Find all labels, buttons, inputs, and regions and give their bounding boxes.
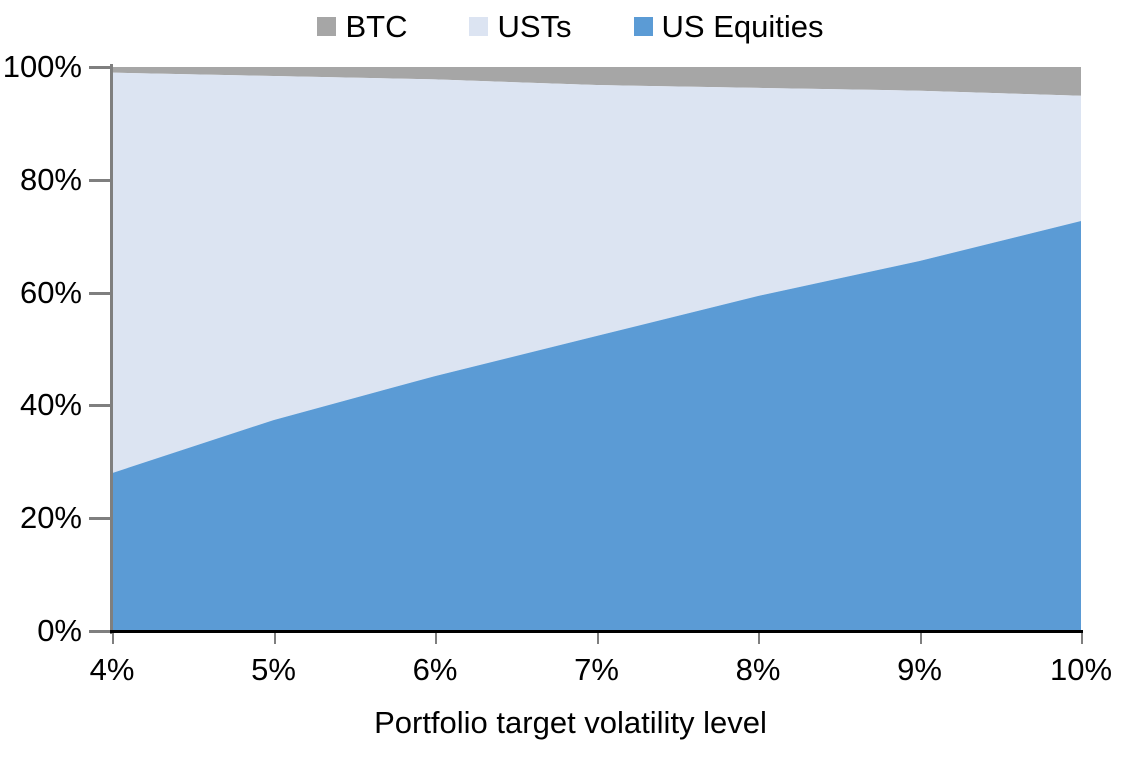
y-axis-tick-label: 60% [0,277,82,308]
legend-label-usts: USTs [497,11,571,42]
y-axis-tick [89,66,110,69]
x-axis-line [89,630,1083,633]
plot-area [112,67,1081,631]
area-chart: BTC USTs US Equities 0%20%40%60%80%100% … [0,0,1141,763]
y-axis-tick-label: 80% [0,164,82,195]
x-axis-tick-label: 10% [1001,654,1141,685]
stacked-area-svg [112,67,1081,631]
x-axis-tick [112,633,114,644]
y-axis-tick [89,517,110,520]
legend-label-btc: BTC [345,11,407,42]
x-axis-tick [274,633,276,644]
legend-swatch-usts-icon [469,17,488,36]
legend-swatch-btc-icon [317,17,336,36]
x-axis-tick-label: 8% [678,654,838,685]
x-axis-tick [920,633,922,644]
y-axis-tick [89,404,110,407]
legend-swatch-us-equities-icon [634,17,653,36]
x-axis-tick-label: 5% [194,654,354,685]
legend-item-btc[interactable]: BTC [317,11,407,42]
x-axis-title: Portfolio target volatility level [0,706,1141,740]
x-axis-tick [597,633,599,644]
x-axis-tick-label: 9% [840,654,1000,685]
y-axis-tick-label: 100% [0,51,82,82]
chart-legend: BTC USTs US Equities [0,6,1141,46]
y-axis-tick [89,292,110,295]
y-axis-tick-label: 0% [0,615,82,646]
x-axis-tick [435,633,437,644]
x-axis-tick-label: 4% [32,654,192,685]
legend-item-us-equities[interactable]: US Equities [634,11,824,42]
legend-label-us-equities: US Equities [662,11,824,42]
y-axis-line [110,64,113,634]
x-axis-tick [758,633,760,644]
x-axis-tick-label: 7% [517,654,677,685]
y-axis-tick-label: 20% [0,502,82,533]
x-axis-tick-label: 6% [355,654,515,685]
x-axis-tick [1081,633,1083,644]
y-axis-tick [89,630,110,633]
y-axis-tick [89,179,110,182]
y-axis-tick-label: 40% [0,389,82,420]
legend-item-usts[interactable]: USTs [469,11,571,42]
